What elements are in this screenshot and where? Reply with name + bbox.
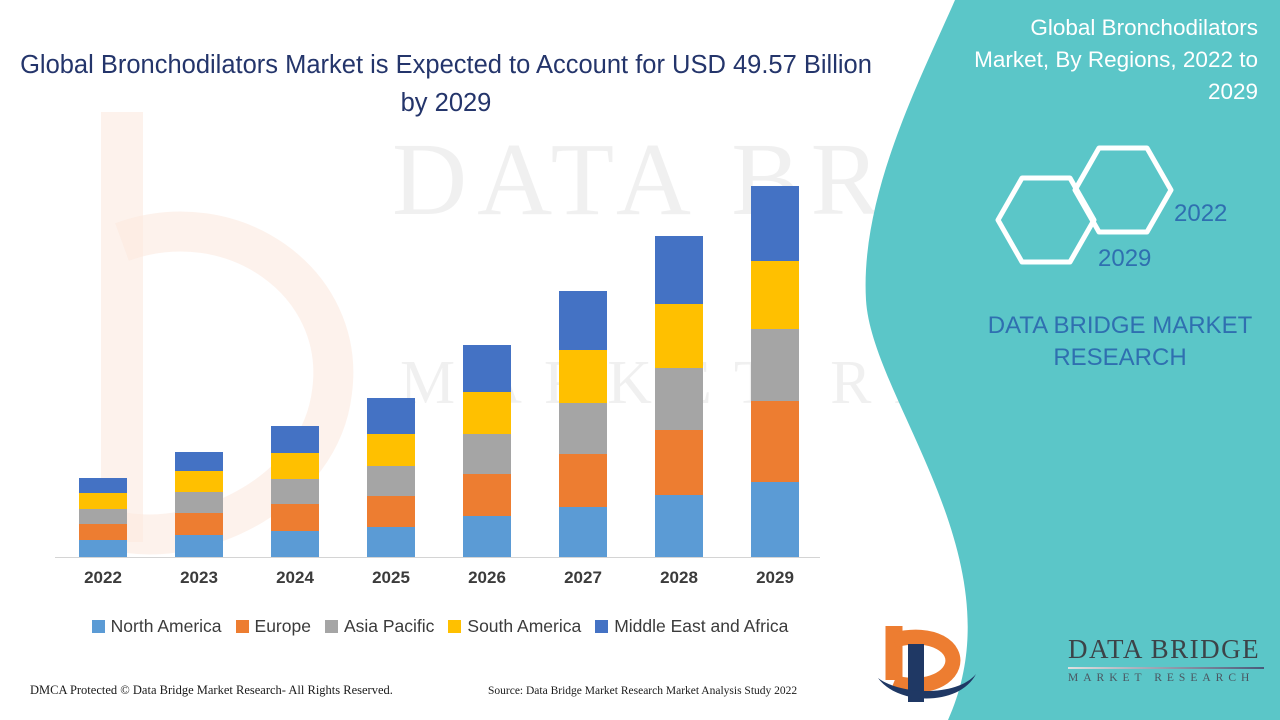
stacked-bar — [175, 452, 223, 557]
bar-segment-europe — [559, 454, 607, 507]
bar-segment-europe — [79, 524, 127, 540]
bar-segment-south-america — [463, 392, 511, 434]
stacked-bar — [559, 291, 607, 557]
bar-segment-middle-east-and-africa — [367, 398, 415, 434]
bar-segment-asia-pacific — [271, 479, 319, 504]
bar-segment-middle-east-and-africa — [175, 452, 223, 471]
bar-segment-europe — [367, 496, 415, 527]
bar-segment-south-america — [751, 261, 799, 329]
dmca-footer-text: DMCA Protected © Data Bridge Market Rese… — [30, 683, 393, 698]
bar-column-2024 — [247, 150, 343, 557]
x-axis-label-2029: 2029 — [727, 568, 823, 588]
bar-segment-north-america — [79, 540, 127, 557]
bar-segment-south-america — [655, 304, 703, 368]
bar-column-2025 — [343, 150, 439, 557]
bar-segment-north-america — [751, 482, 799, 557]
bar-segment-middle-east-and-africa — [271, 426, 319, 453]
chart-title: Global Bronchodilators Market is Expecte… — [18, 46, 874, 122]
bar-segment-north-america — [655, 495, 703, 557]
chart-legend: North AmericaEuropeAsia PacificSouth Ame… — [55, 616, 825, 637]
bar-segment-south-america — [559, 350, 607, 403]
bar-segment-middle-east-and-africa — [751, 186, 799, 261]
bar-segment-asia-pacific — [79, 509, 127, 524]
legend-label: Asia Pacific — [344, 616, 434, 637]
bar-segment-middle-east-and-africa — [79, 478, 127, 493]
bar-segment-middle-east-and-africa — [559, 291, 607, 350]
x-axis-label-2028: 2028 — [631, 568, 727, 588]
stacked-bar — [751, 186, 799, 557]
data-bridge-mark-icon — [872, 618, 1052, 710]
bar-segment-europe — [463, 474, 511, 516]
x-axis-label-2022: 2022 — [55, 568, 151, 588]
data-bridge-logo: DATA BRIDGE MARKET RESEARCH — [872, 618, 1272, 710]
bar-segment-south-america — [79, 493, 127, 509]
bar-segment-europe — [655, 430, 703, 495]
logo-subtitle: MARKET RESEARCH — [1068, 672, 1264, 684]
legend-swatch-icon — [448, 620, 461, 633]
legend-label: South America — [467, 616, 581, 637]
x-axis-label-2023: 2023 — [151, 568, 247, 588]
logo-divider — [1068, 667, 1264, 669]
hex-label-2022: 2022 — [1174, 200, 1227, 228]
stacked-bar — [367, 398, 415, 557]
legend-item-middle-east-and-africa: Middle East and Africa — [595, 616, 788, 637]
hex-label-2029: 2029 — [1098, 245, 1151, 273]
bar-segment-asia-pacific — [559, 403, 607, 454]
legend-item-europe: Europe — [236, 616, 311, 637]
logo-wordmark: DATA BRIDGE MARKET RESEARCH — [1068, 634, 1264, 684]
stacked-bar-plot-area — [55, 150, 823, 557]
bar-segment-north-america — [271, 531, 319, 557]
bar-column-2022 — [55, 150, 151, 557]
stacked-bar — [463, 345, 511, 557]
logo-title: DATA BRIDGE — [1068, 634, 1264, 665]
stacked-bar — [655, 236, 703, 557]
bar-segment-europe — [751, 401, 799, 482]
bar-segment-south-america — [175, 471, 223, 492]
panel-title: Global Bronchodilators Market, By Region… — [958, 12, 1258, 108]
right-brand-panel: Global Bronchodilators Market, By Region… — [860, 0, 1280, 720]
bar-column-2027 — [535, 150, 631, 557]
x-axis-label-2027: 2027 — [535, 568, 631, 588]
legend-swatch-icon — [325, 620, 338, 633]
x-axis-line — [55, 557, 820, 558]
x-axis-label-2026: 2026 — [439, 568, 535, 588]
bar-segment-middle-east-and-africa — [655, 236, 703, 304]
bar-segment-asia-pacific — [655, 368, 703, 430]
infographic-canvas: DATA BRIDGE MARKET RESEARCH Global Bronc… — [0, 0, 1280, 720]
bar-column-2023 — [151, 150, 247, 557]
bar-column-2029 — [727, 150, 823, 557]
legend-swatch-icon — [236, 620, 249, 633]
x-axis-label-2024: 2024 — [247, 568, 343, 588]
bar-segment-asia-pacific — [751, 329, 799, 401]
bar-segment-europe — [271, 504, 319, 531]
stacked-bar — [79, 478, 127, 557]
bar-segment-south-america — [271, 453, 319, 479]
bar-segment-asia-pacific — [367, 466, 415, 496]
hexagon-badges: 2022 2029 — [960, 140, 1260, 300]
x-axis-label-2025: 2025 — [343, 568, 439, 588]
bar-segment-north-america — [463, 516, 511, 557]
bar-segment-north-america — [175, 535, 223, 557]
bar-column-2028 — [631, 150, 727, 557]
bar-segment-asia-pacific — [175, 492, 223, 513]
legend-item-south-america: South America — [448, 616, 581, 637]
stacked-bar — [271, 426, 319, 557]
bar-segment-south-america — [367, 434, 415, 466]
bar-segment-middle-east-and-africa — [463, 345, 511, 392]
legend-label: Middle East and Africa — [614, 616, 788, 637]
legend-swatch-icon — [595, 620, 608, 633]
bar-segment-europe — [175, 513, 223, 535]
legend-swatch-icon — [92, 620, 105, 633]
legend-label: North America — [111, 616, 222, 637]
legend-item-asia-pacific: Asia Pacific — [325, 616, 434, 637]
bar-segment-asia-pacific — [463, 434, 511, 474]
source-footer-text: Source: Data Bridge Market Research Mark… — [488, 685, 797, 697]
panel-brand-name: DATA BRIDGE MARKET RESEARCH — [980, 310, 1260, 374]
legend-label: Europe — [255, 616, 311, 637]
bar-segment-north-america — [559, 507, 607, 557]
x-axis-labels: 20222023202420252026202720282029 — [55, 568, 823, 588]
bar-column-2026 — [439, 150, 535, 557]
legend-item-north-america: North America — [92, 616, 222, 637]
bar-segment-north-america — [367, 527, 415, 557]
